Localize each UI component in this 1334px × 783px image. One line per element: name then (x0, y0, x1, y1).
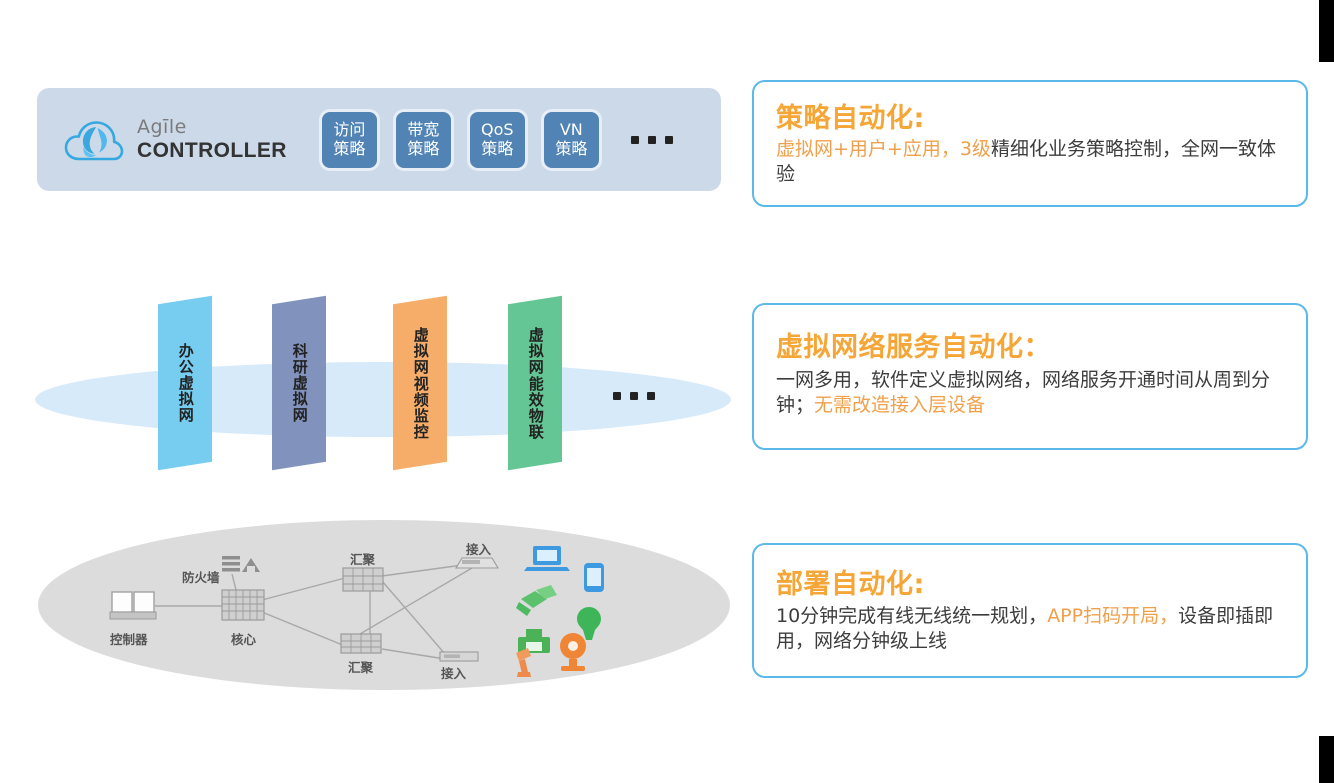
topology-label-core: 核心 (231, 629, 256, 648)
callout-1-body: 虚拟网+用户+应用，3级精细化业务策略控制，全网一致体验 (776, 137, 1286, 188)
tablet-icon (584, 563, 604, 592)
policy-qos-line1: QoS (481, 121, 514, 140)
core-switch-icon (222, 590, 264, 620)
topology-label-aggregation-2: 汇聚 (348, 657, 373, 676)
policy-bandwidth-line2: 策略 (407, 140, 439, 159)
policy-button-access[interactable]: 访问 策略 (321, 111, 378, 169)
policy-access-line1: 访问 (333, 121, 365, 140)
vn-slab-research-col1: 科研虚拟网 (291, 343, 308, 423)
callout-3-body: 10分钟完成有线无线统一规划，APP扫码开局，设备即插即用，网络分钟级上线 (776, 604, 1286, 655)
vn-slab-video-label: 视频监控 虚拟网 (412, 327, 429, 440)
policy-qos-line2: 策略 (481, 140, 513, 159)
policy-vn-line2: 策略 (555, 140, 587, 159)
vn-slab-energy-col2: 虚拟网 (527, 327, 544, 375)
vn-slab-office: 办公虚拟网 (158, 296, 212, 471)
agile-controller-logo: Agīle CONTROLLER (63, 115, 287, 165)
edge-bar-bottom (1319, 736, 1334, 783)
vn-slab-office-label: 办公虚拟网 (177, 343, 194, 423)
cloud-swirl-icon (63, 115, 125, 165)
vn-slab-energy-label: 能效物联 虚拟网 (527, 327, 544, 440)
topology-label-access-1: 接入 (466, 539, 491, 558)
controller-icon (110, 592, 156, 619)
edge-bar-top (1319, 0, 1334, 62)
policy-buttons-row: 访问 策略 带宽 策略 QoS 策略 VN 策略 (321, 111, 673, 169)
slide-canvas: Agīle CONTROLLER 访问 策略 带宽 策略 QoS 策略 VN 策… (0, 0, 1334, 783)
policy-bandwidth-line1: 带宽 (407, 121, 439, 140)
topology-label-aggregation-1: 汇聚 (350, 549, 375, 568)
callout-2-body: 一网多用，软件定义虚拟网络，网络服务开通时间从周到分钟；无需改造接入层设备 (776, 368, 1286, 419)
callout-3-highlight: APP扫码开局， (1047, 605, 1178, 627)
callout-virtual-network-service-automation: 虚拟网络服务自动化： 一网多用，软件定义虚拟网络，网络服务开通时间从周到分钟；无… (752, 303, 1308, 450)
cctv-icon (516, 648, 531, 677)
callout-2-highlight: 无需改造接入层设备 (814, 394, 985, 416)
callout-deployment-automation: 部署自动化: 10分钟完成有线无线统一规划，APP扫码开局，设备即插即用，网络分… (752, 543, 1308, 678)
aggregation-switch-1-icon (343, 568, 383, 591)
vn-slab-research: 科研虚拟网 (272, 296, 326, 471)
laptop-icon (524, 546, 570, 571)
callout-3-rest: 10分钟完成有线无线统一规划， (776, 605, 1047, 627)
policy-button-vn[interactable]: VN 策略 (543, 111, 600, 169)
access-switch-1-icon (456, 558, 498, 568)
vn-slab-energy-col1: 能效物联 (527, 376, 544, 440)
policy-button-bandwidth[interactable]: 带宽 策略 (395, 111, 452, 169)
bulb-icon (577, 607, 601, 640)
virtual-networks-zone: 办公虚拟网 科研虚拟网 视频监控 虚拟网 能效物联 虚拟网 (0, 300, 740, 500)
logo-line-controller: CONTROLLER (137, 140, 287, 161)
agile-controller-wordmark: Agīle CONTROLLER (137, 118, 287, 161)
vn-slab-video-col1: 视频监控 (412, 376, 429, 440)
vn-slab-research-label: 科研虚拟网 (291, 343, 308, 423)
network-topology-zone: 控制器 防火墙 核心 汇聚 汇聚 接入 接入 (0, 516, 740, 692)
vn-more-ellipsis-icon (613, 392, 655, 400)
policy-more-ellipsis-icon (631, 136, 673, 144)
agile-controller-panel: Agīle CONTROLLER 访问 策略 带宽 策略 QoS 策略 VN 策… (37, 88, 721, 191)
callout-3-heading: 部署自动化: (776, 562, 1286, 601)
vn-slab-energy: 能效物联 虚拟网 (508, 296, 562, 471)
policy-button-qos[interactable]: QoS 策略 (469, 111, 526, 169)
policy-vn-line1: VN (560, 121, 583, 140)
webcam-icon (560, 633, 586, 671)
firewall-icon (222, 556, 260, 572)
printer-icon (518, 629, 550, 653)
topology-label-access-2: 接入 (441, 663, 466, 682)
callout-2-heading: 虚拟网络服务自动化： (776, 325, 1286, 364)
topology-label-controller: 控制器 (110, 629, 148, 648)
policy-access-line2: 策略 (333, 140, 365, 159)
topology-label-firewall: 防火墙 (182, 567, 220, 586)
aggregation-switch-2-icon (341, 634, 381, 653)
callout-1-highlight: 虚拟网+用户+应用，3级 (776, 138, 991, 160)
sensor-icon (516, 585, 557, 616)
vn-slab-video-col2: 虚拟网 (412, 327, 429, 375)
vn-slab-office-col1: 办公虚拟网 (177, 343, 194, 423)
vn-slab-video: 视频监控 虚拟网 (393, 296, 447, 471)
callout-1-heading: 策略自动化: (776, 96, 1286, 135)
access-switch-2-icon (440, 652, 478, 661)
logo-line-agile: Agīle (137, 118, 287, 137)
callout-policy-automation: 策略自动化: 虚拟网+用户+应用，3级精细化业务策略控制，全网一致体验 (752, 80, 1308, 207)
